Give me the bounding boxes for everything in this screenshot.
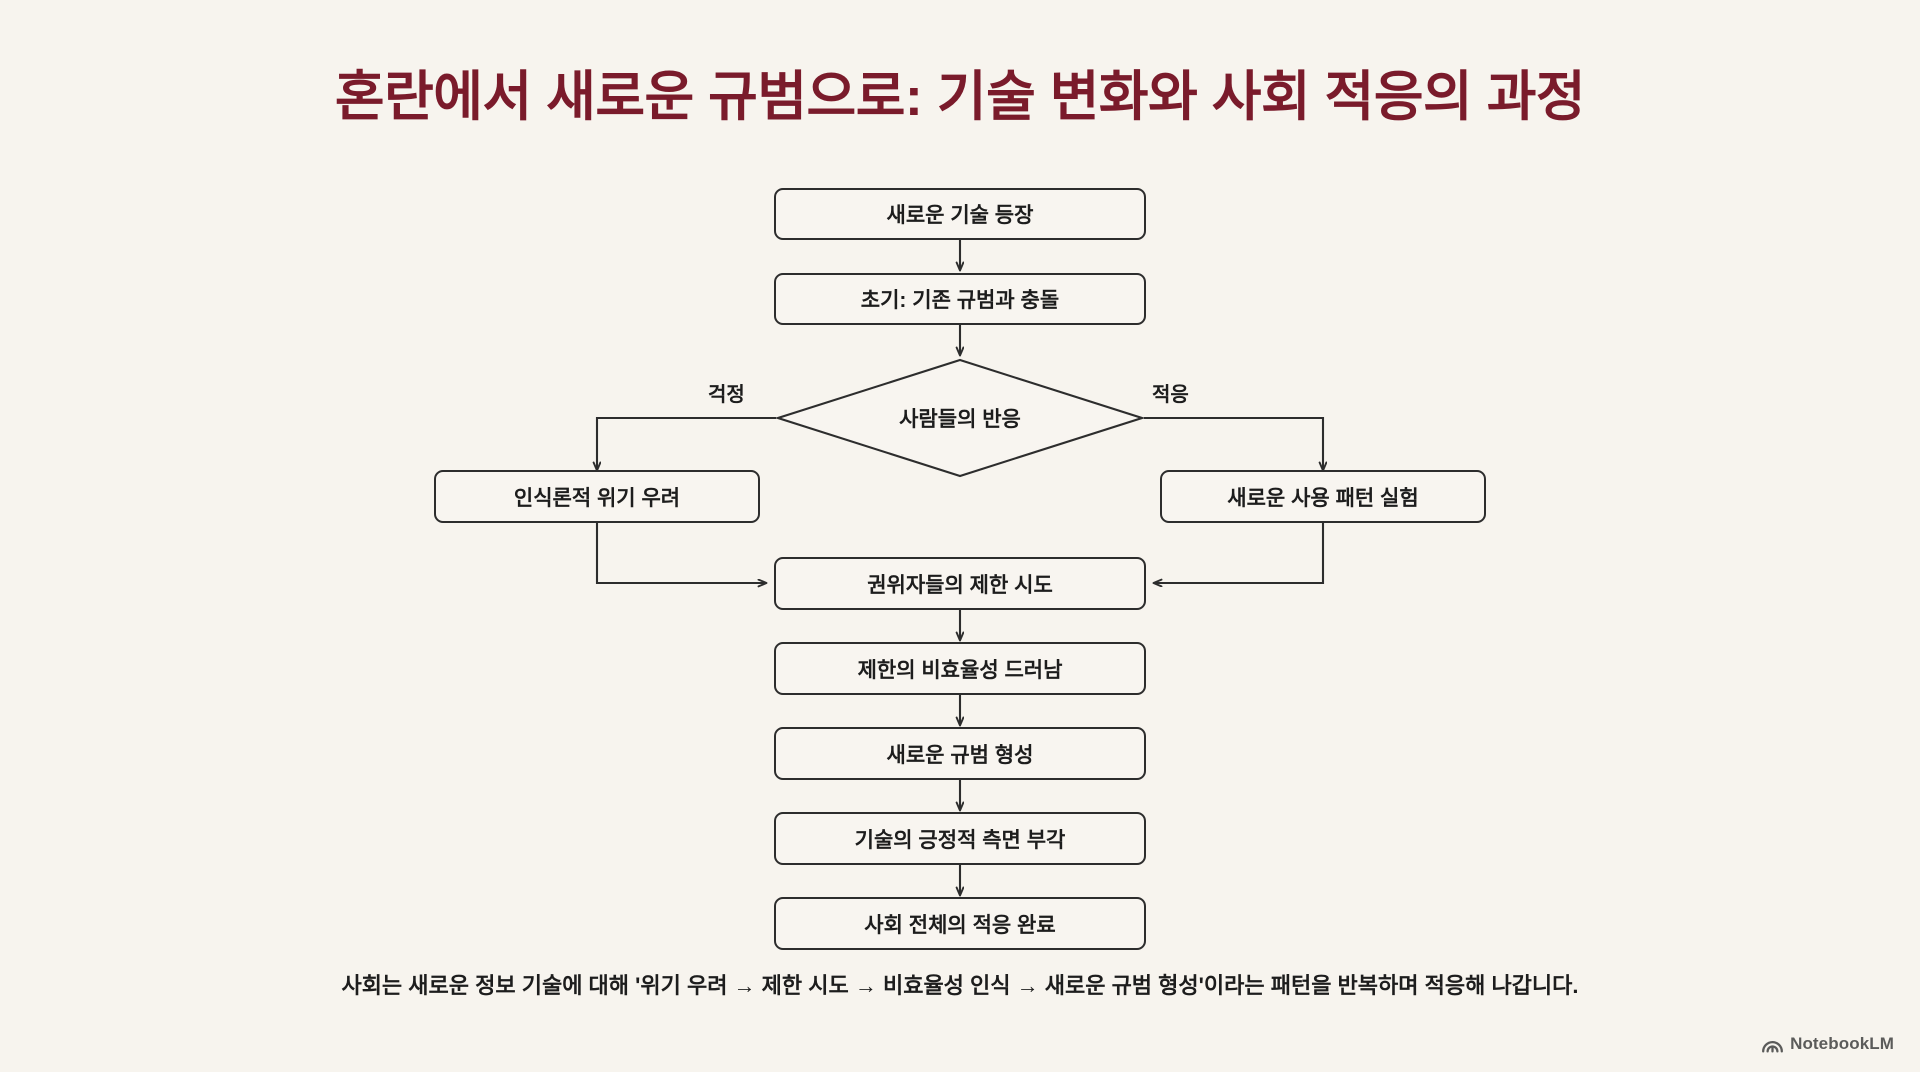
notebooklm-label: NotebookLM <box>1790 1034 1894 1054</box>
flowchart-diagram: 새로운 기술 등장 초기: 기존 규범과 충돌 사람들의 반응 걱정 적응 인식… <box>0 0 1920 1072</box>
node-authorities-restriction-attempt[interactable]: 권위자들의 제한 시도 <box>774 557 1146 610</box>
edge-n5-n6 <box>1154 523 1323 583</box>
edge-label-adaptation: 적응 <box>1152 378 1189 407</box>
edge-label-worry: 걱정 <box>708 378 745 407</box>
node-society-wide-adaptation-complete[interactable]: 사회 전체의 적응 완료 <box>774 897 1146 950</box>
notebooklm-watermark: NotebookLM <box>1762 1034 1894 1054</box>
node-new-norms-formed[interactable]: 새로운 규범 형성 <box>774 727 1146 780</box>
node-initial-conflict-with-norms[interactable]: 초기: 기존 규범과 충돌 <box>774 273 1146 325</box>
node-new-technology-emerges[interactable]: 새로운 기술 등장 <box>774 188 1146 240</box>
slide-canvas: 혼란에서 새로운 규범으로: 기술 변화와 사회 적응의 과정 <box>0 0 1920 1072</box>
edge-n3-n5 <box>1144 418 1323 470</box>
edge-n4-n6 <box>597 523 766 583</box>
node-label: 새로운 규범 형성 <box>887 739 1034 769</box>
node-restriction-inefficiency-revealed[interactable]: 제한의 비효율성 드러남 <box>774 642 1146 695</box>
node-label: 초기: 기존 규범과 충돌 <box>861 284 1059 314</box>
node-label: 기술의 긍정적 측면 부각 <box>855 824 1066 854</box>
node-label: 제한의 비효율성 드러남 <box>858 654 1063 684</box>
node-label: 새로운 사용 패턴 실험 <box>1227 482 1418 512</box>
node-label: 사람들의 반응 <box>899 403 1021 433</box>
node-label: 권위자들의 제한 시도 <box>867 569 1053 599</box>
node-label: 인식론적 위기 우려 <box>514 482 680 512</box>
notebooklm-spiral-icon <box>1762 1035 1783 1053</box>
node-label: 사회 전체의 적응 완료 <box>864 909 1055 939</box>
node-positive-aspects-highlighted[interactable]: 기술의 긍정적 측면 부각 <box>774 812 1146 865</box>
node-new-usage-pattern-experiment[interactable]: 새로운 사용 패턴 실험 <box>1160 470 1486 523</box>
node-peoples-reaction-decision[interactable]: 사람들의 반응 <box>776 358 1144 478</box>
summary-caption: 사회는 새로운 정보 기술에 대해 '위기 우려 → 제한 시도 → 비효율성 … <box>0 968 1920 1000</box>
node-epistemic-crisis-concern[interactable]: 인식론적 위기 우려 <box>434 470 760 523</box>
edge-n3-n4 <box>597 418 776 470</box>
node-label: 새로운 기술 등장 <box>887 199 1034 229</box>
